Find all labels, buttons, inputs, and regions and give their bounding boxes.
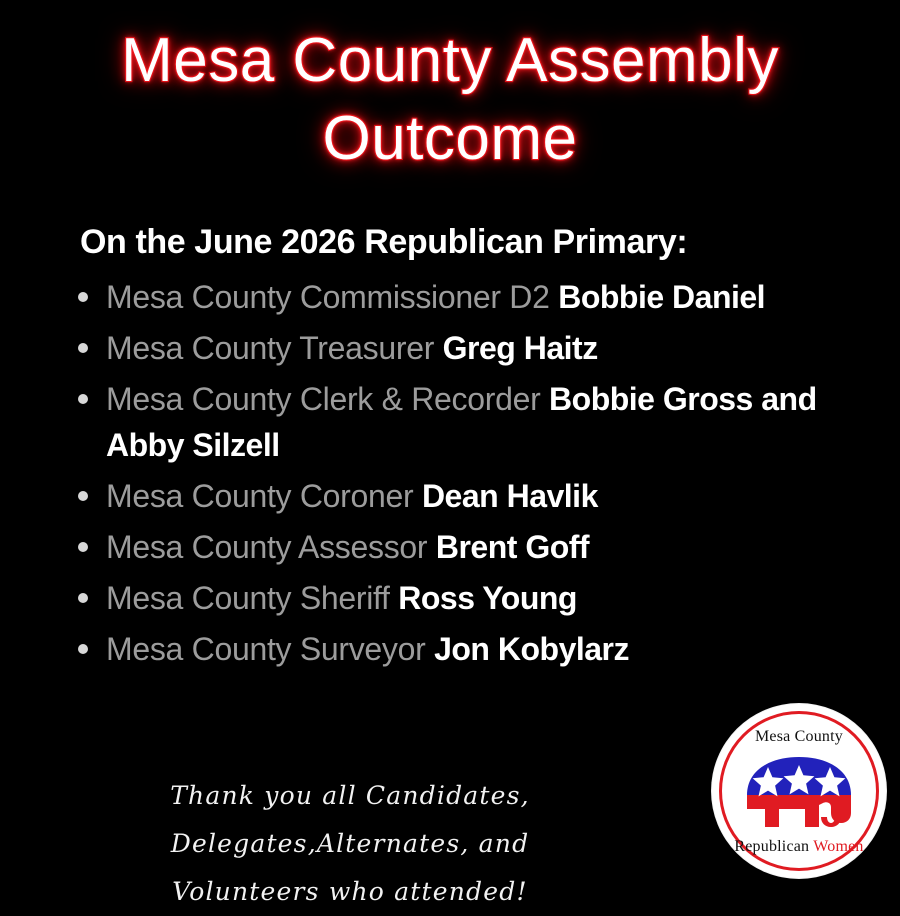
thank-you-message: Thank you all Candidates, Delegates,Alte…	[22, 772, 678, 916]
candidate-name: Jon Kobylarz	[434, 631, 629, 667]
bullet-icon	[78, 491, 88, 501]
page-title: Mesa County Assembly Outcome	[0, 22, 900, 178]
office-label: Mesa County Sheriff	[106, 580, 390, 616]
bullet-icon	[78, 394, 88, 404]
logo-bottom-primary: Republican	[734, 838, 809, 855]
office-label: Mesa County Treasurer	[106, 330, 434, 366]
office-label: Mesa County Coroner	[106, 478, 413, 514]
list-item: Mesa County Sheriff Ross Young	[62, 575, 892, 621]
logo-bottom-text: RepublicanWomen	[712, 838, 886, 856]
office-label: Mesa County Clerk & Recorder	[106, 381, 540, 417]
bullet-icon	[78, 593, 88, 603]
bullet-icon	[78, 644, 88, 654]
subheading: On the June 2026 Republican Primary:	[80, 221, 880, 263]
list-item: Mesa County Treasurer Greg Haitz	[62, 325, 892, 371]
list-item: Mesa County Clerk & Recorder Bobbie Gros…	[62, 376, 892, 468]
bullet-icon	[78, 292, 88, 302]
office-label: Mesa County Surveyor	[106, 631, 425, 667]
candidate-name: Brent Goff	[436, 529, 589, 565]
logo-top-text: Mesa County	[712, 728, 886, 746]
list-item: Mesa County Commissioner D2 Bobbie Danie…	[62, 274, 892, 320]
candidate-name: Dean Havlik	[422, 478, 598, 514]
candidate-name: Greg Haitz	[443, 330, 598, 366]
office-label: Mesa County Commissioner D2	[106, 279, 550, 315]
candidate-name: Bobbie Daniel	[558, 279, 765, 315]
office-label: Mesa County Assessor	[106, 529, 427, 565]
candidate-name: Ross Young	[398, 580, 577, 616]
thank-you-line-2: Volunteers who attended!	[22, 868, 678, 916]
list-item: Mesa County Assessor Brent Goff	[62, 524, 892, 570]
title-line-2: Outcome	[0, 100, 900, 178]
logo-bottom-accent: Women	[813, 838, 863, 855]
bullet-icon	[78, 542, 88, 552]
race-list: Mesa County Commissioner D2 Bobbie Danie…	[62, 274, 892, 677]
gop-elephant-icon	[735, 751, 863, 833]
list-item: Mesa County Surveyor Jon Kobylarz	[62, 626, 892, 672]
poster-canvas: Mesa County Assembly Outcome On the June…	[0, 0, 900, 900]
thank-you-line-1: Thank you all Candidates, Delegates,Alte…	[22, 772, 678, 868]
list-item: Mesa County Coroner Dean Havlik	[62, 473, 892, 519]
mesa-county-republican-women-logo: Mesa County RepublicanWomen	[712, 704, 886, 878]
bullet-icon	[78, 343, 88, 353]
title-line-1: Mesa County Assembly	[0, 22, 900, 100]
